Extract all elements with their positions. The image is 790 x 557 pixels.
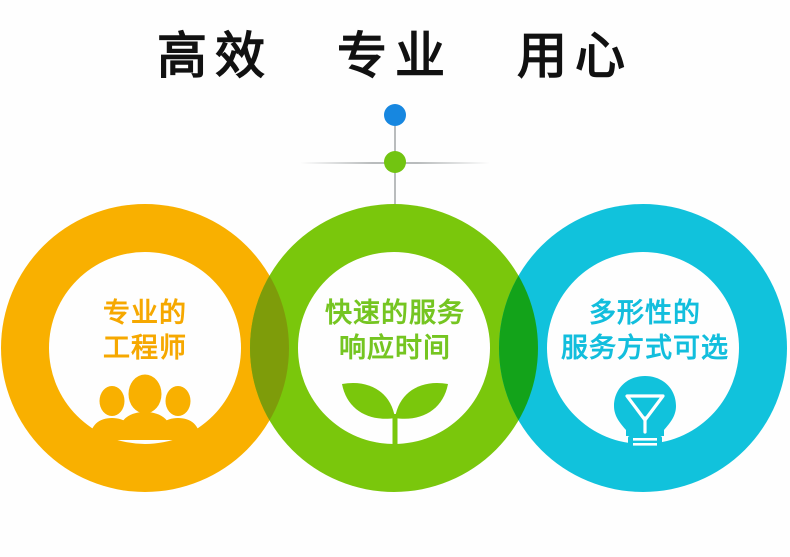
overlap-green-cyan (0, 0, 790, 557)
venn-rings (0, 0, 790, 557)
poster-canvas: 高效专业用心 (0, 0, 790, 557)
